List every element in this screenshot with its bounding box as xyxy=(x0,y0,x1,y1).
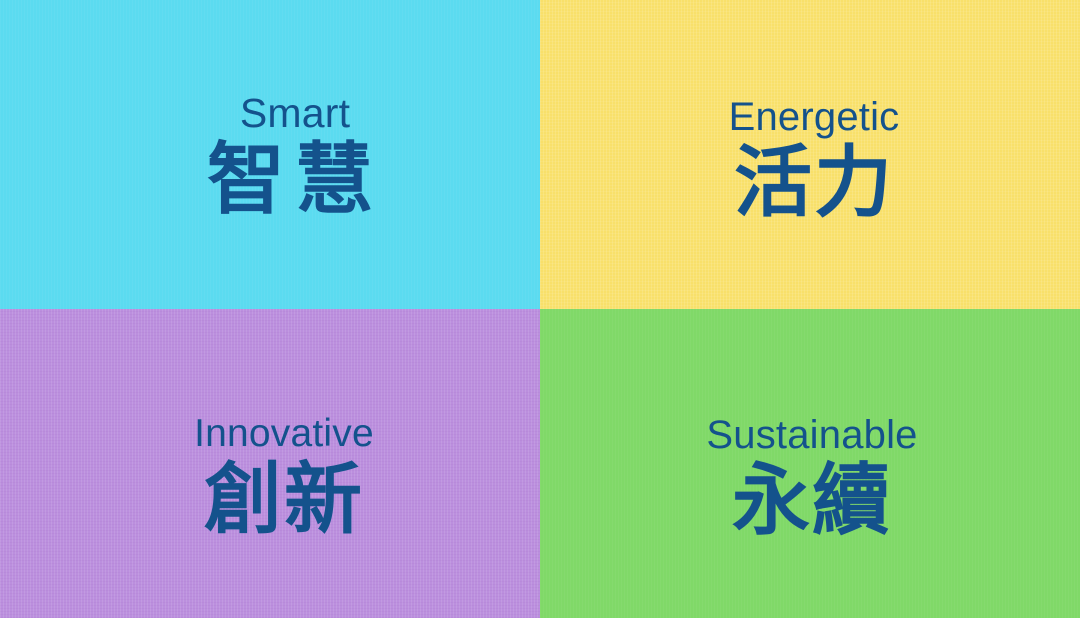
quadrant-energetic-label-en: Energetic xyxy=(548,96,1080,138)
quadrant-energetic-text: Energetic 活力 xyxy=(548,96,1080,224)
quadrant-sustainable: Sustainable 永續 xyxy=(540,309,1080,618)
quadrant-innovative-label-zh: 創新 xyxy=(28,461,540,541)
quadrant-innovative-text: Innovative 創新 xyxy=(28,414,540,540)
quadrant-innovative-label-en: Innovative xyxy=(28,414,540,455)
quadrant-sustainable-label-en: Sustainable xyxy=(544,414,1080,456)
quadrant-smart-label-zh: 智慧 xyxy=(50,141,540,221)
quadrant-innovative: Innovative 創新 xyxy=(0,309,540,618)
quadrant-smart-text: Smart 智慧 xyxy=(50,92,540,221)
quadrant-smart: Smart 智慧 xyxy=(0,0,540,309)
quadrant-sustainable-label-zh: 永續 xyxy=(544,462,1080,542)
quadrant-energetic-label-zh: 活力 xyxy=(548,144,1080,224)
brand-values-poster: Smart 智慧 Energetic 活力 Innovative 創新 Sust… xyxy=(0,0,1080,618)
quadrant-energetic: Energetic 活力 xyxy=(540,0,1080,309)
quadrant-sustainable-text: Sustainable 永續 xyxy=(544,414,1080,542)
quadrant-smart-label-en: Smart xyxy=(50,92,540,135)
